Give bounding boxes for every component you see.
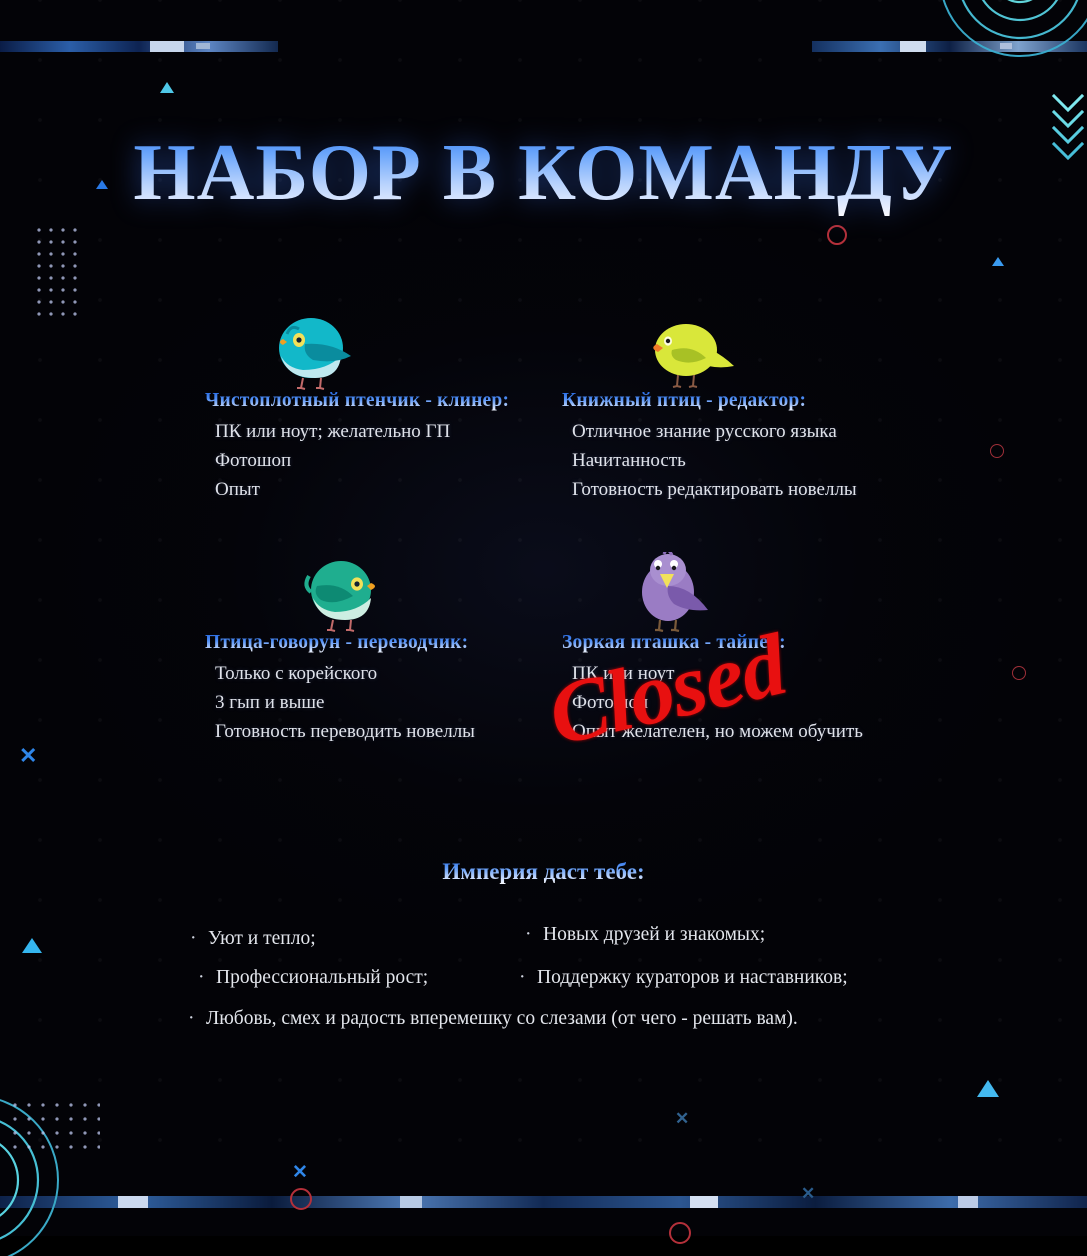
dot-grid-bottom-left (8, 1098, 100, 1156)
glitch-bar-bottom (0, 1196, 1087, 1208)
x-marker-1: ✕ (19, 745, 37, 767)
concentric-arcs-top-right (932, 0, 1087, 66)
triangle-marker-3 (992, 257, 1004, 266)
role-requirement: Готовность переводить новеллы (205, 717, 605, 746)
list-item: ·Профессиональный рост; (198, 967, 428, 989)
ring-marker-1 (827, 225, 847, 245)
role-requirement: Начитанность (562, 446, 962, 475)
role-title: Чистоплотный птенчик - клинер: (205, 390, 605, 412)
page-title: НАБОР В КОМАНДУ (0, 128, 1087, 219)
bird-teal-icon (205, 554, 605, 632)
role-card-editor: Книжный птиц - редактор: Отличное знание… (562, 312, 962, 504)
triangle-marker-1 (160, 82, 174, 93)
list-item: ·Уют и тепло; (190, 928, 316, 950)
x-marker-3: ✕ (292, 1163, 308, 1182)
role-requirement: Фотошоп (205, 446, 605, 475)
concentric-arcs-bottom-left (0, 1096, 114, 1256)
glitch-bar-top (0, 41, 278, 52)
offer-section-title: Империя даст тебе: (0, 859, 1087, 885)
bullet-marker: · (198, 967, 216, 989)
x-marker-4: ✕ (801, 1185, 815, 1202)
role-requirement: ПК или ноут; желательно ГП (205, 417, 605, 446)
list-item-label: Уют и тепло; (208, 928, 316, 949)
list-item: ·Любовь, смех и радость вперемешку со сл… (188, 1008, 798, 1030)
bullet-marker: · (188, 1008, 206, 1030)
triangle-marker-5 (977, 1080, 999, 1097)
triangle-marker-4 (22, 938, 42, 953)
list-item-label: Любовь, смех и радость вперемешку со сле… (206, 1008, 798, 1029)
list-item-label: Новых друзей и знакомых; (543, 924, 765, 945)
dot-grid-left (33, 224, 83, 324)
list-item-label: Профессиональный рост; (216, 967, 428, 988)
role-title: Книжный птиц - редактор: (562, 390, 962, 412)
list-item-label: Поддержку кураторов и наставников; (537, 967, 848, 988)
bullet-marker: · (190, 928, 208, 950)
bird-cyan-icon (205, 312, 605, 390)
glitch-bar-top-right (812, 41, 1087, 52)
role-card-cleaner: Чистоплотный птенчик - клинер: ПК или но… (205, 312, 605, 504)
ring-marker-2 (990, 444, 1004, 458)
role-requirement: Опыт (205, 475, 605, 504)
role-requirement: Готовность редактировать новеллы (562, 475, 962, 504)
bullet-marker: · (525, 924, 543, 946)
ring-marker-4 (290, 1188, 312, 1210)
x-marker-2: ✕ (675, 1110, 689, 1127)
bird-yellow-icon (562, 312, 962, 390)
list-item: ·Новых друзей и знакомых; (525, 924, 765, 946)
role-requirement: Отличное знание русского языка (562, 417, 962, 446)
ring-marker-5 (669, 1222, 691, 1244)
bullet-marker: · (519, 967, 537, 989)
ring-marker-3 (1012, 666, 1026, 680)
role-card-translator: Птица-говорун - переводчик: Только с кор… (205, 554, 605, 746)
list-item: ·Поддержку кураторов и наставников; (519, 967, 848, 989)
role-title: Птица-говорун - переводчик: (205, 632, 605, 654)
